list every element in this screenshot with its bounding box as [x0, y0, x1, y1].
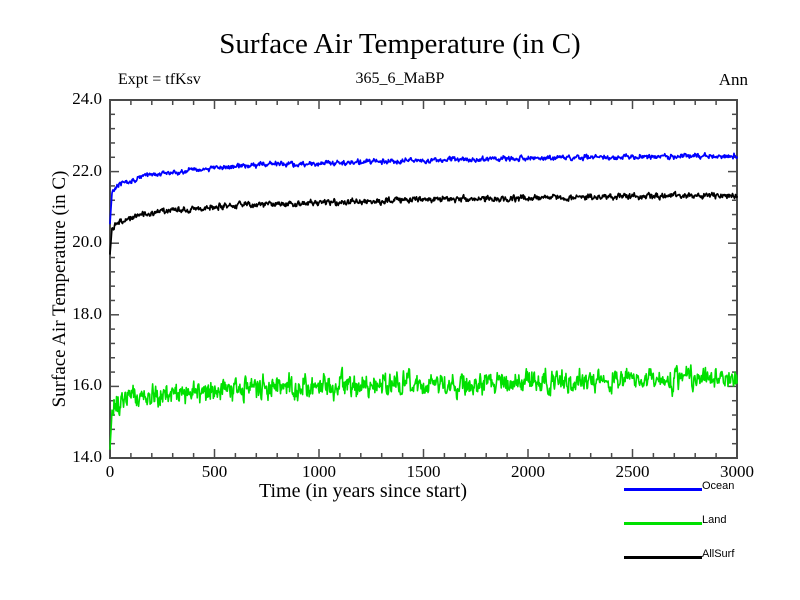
- x-tick-label: 500: [175, 462, 255, 482]
- axes-frame: [110, 100, 737, 458]
- chart-legend: OceanLandAllSurf: [624, 479, 800, 569]
- series-line-allsurf: [110, 192, 737, 254]
- axis-ticks: [110, 100, 737, 458]
- legend-swatch-land: [624, 522, 702, 525]
- legend-label-allsurf: AllSurf: [702, 548, 734, 560]
- y-tick-label: 18.0: [32, 304, 102, 324]
- legend-label-ocean: Ocean: [702, 480, 734, 492]
- y-tick-label: 20.0: [32, 232, 102, 252]
- x-tick-label: 1500: [384, 462, 464, 482]
- x-tick-label: 1000: [279, 462, 359, 482]
- series-line-ocean: [110, 153, 737, 224]
- x-tick-label: 2000: [488, 462, 568, 482]
- legend-label-land: Land: [702, 514, 726, 526]
- legend-item-land[interactable]: Land: [624, 513, 800, 535]
- data-series-layer: [110, 153, 737, 449]
- figure-canvas: Surface Air Temperature (in C) Expt = tf…: [0, 0, 800, 600]
- legend-item-ocean[interactable]: Ocean: [624, 479, 800, 501]
- legend-swatch-allsurf: [624, 556, 702, 559]
- legend-swatch-ocean: [624, 488, 702, 491]
- legend-item-allsurf[interactable]: AllSurf: [624, 547, 800, 569]
- y-tick-label: 24.0: [32, 89, 102, 109]
- y-tick-label: 22.0: [32, 161, 102, 181]
- series-line-land: [110, 365, 737, 449]
- y-tick-label: 14.0: [32, 447, 102, 467]
- y-tick-label: 16.0: [32, 375, 102, 395]
